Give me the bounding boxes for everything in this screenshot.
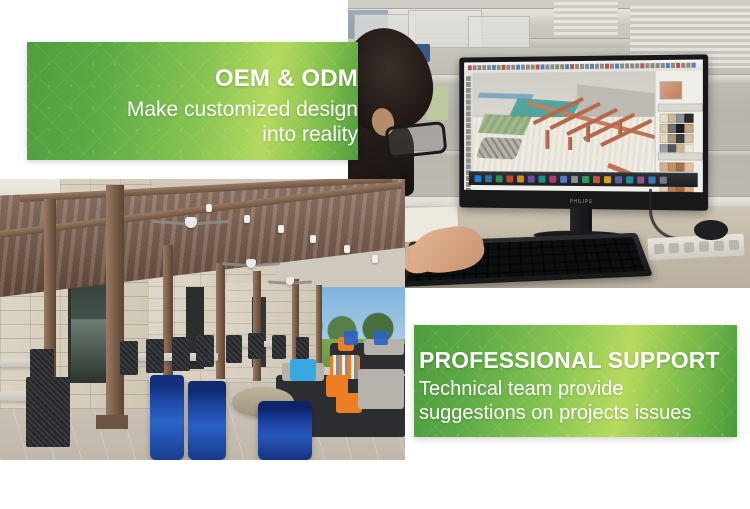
- cad-tool-icon: [692, 63, 696, 68]
- taskbar-app-icon: [485, 175, 492, 182]
- cad-tool-icon: [466, 153, 471, 158]
- cad-tool-icon: [560, 64, 564, 69]
- cad-tool-icon: [477, 65, 481, 70]
- cad-material-swatch: [684, 114, 693, 123]
- taskbar-app-icon: [626, 176, 633, 183]
- ceiling-fan: [222, 259, 280, 272]
- cad-material-swatch: [684, 163, 693, 172]
- cad-active-material: [660, 81, 683, 99]
- cad-pergola-beam: [532, 97, 583, 125]
- sofa-cushion: [358, 369, 404, 409]
- dining-chair: [146, 339, 164, 373]
- cad-tool-icon: [661, 63, 665, 68]
- cad-tool-icon: [516, 65, 520, 70]
- cad-tool-icon: [605, 64, 609, 69]
- taskbar-app-icon: [582, 176, 589, 183]
- cad-tool-icon: [550, 64, 554, 69]
- pergola-post-base: [96, 415, 128, 429]
- pergola-post: [316, 285, 322, 371]
- fan-blade: [196, 220, 230, 225]
- banner-support-line-1: Technical team provide: [419, 377, 624, 401]
- cad-tool-icon: [466, 129, 471, 134]
- taskbar-app-icon: [475, 175, 482, 182]
- fan-blade: [294, 280, 312, 284]
- cad-tool-icon: [482, 65, 486, 70]
- cad-tool-icon: [615, 64, 619, 69]
- photo-patio-pergola: [0, 179, 405, 460]
- cad-tool-icon: [466, 106, 471, 111]
- cad-tool-icon: [466, 188, 471, 192]
- cad-tool-icon: [565, 64, 569, 69]
- cad-tool-icon: [466, 164, 471, 169]
- blue-planter-small: [374, 331, 388, 345]
- pergola-downlight: [372, 255, 378, 263]
- cad-palette-header: [658, 152, 703, 160]
- cad-tool-icon: [686, 63, 690, 68]
- power-socket: [729, 240, 740, 251]
- os-taskbar: [469, 171, 698, 187]
- fan-housing: [246, 259, 256, 268]
- taskbar-app-icon: [604, 176, 611, 183]
- monitor-brand-label: PHILIPS: [570, 199, 593, 205]
- eyeglasses: [384, 121, 447, 159]
- pergola-downlight: [310, 235, 316, 243]
- blue-planter-small: [344, 331, 358, 345]
- power-socket: [684, 242, 695, 253]
- dining-chair: [196, 335, 214, 367]
- cad-tool-icon: [671, 63, 675, 68]
- dining-chair: [226, 335, 242, 363]
- cad-tool-icon: [580, 64, 584, 69]
- cad-tool-icon: [466, 100, 471, 105]
- ceiling-fan: [268, 277, 312, 288]
- cad-tool-icon: [595, 64, 599, 69]
- cad-tool-icon: [506, 65, 510, 70]
- cad-tool-icon: [640, 63, 644, 68]
- cad-tool-icon: [545, 64, 549, 69]
- cad-tool-icon: [487, 65, 491, 70]
- cad-tool-icon: [541, 64, 545, 69]
- taskbar-app-icon: [528, 176, 535, 183]
- photo-office-design: PHILIPS: [348, 0, 750, 288]
- dining-chair: [26, 377, 70, 447]
- cad-tool-icon: [600, 64, 604, 69]
- blue-glazed-vase: [150, 375, 184, 460]
- blue-glazed-vase: [188, 381, 226, 460]
- cad-tool-icon: [575, 64, 579, 69]
- cad-tool-icon: [466, 147, 471, 152]
- banner-oem-title: OEM & ODM: [215, 66, 358, 92]
- cad-tool-icon: [681, 63, 685, 68]
- cad-tool-icon: [466, 117, 471, 122]
- cad-tool-icon: [497, 65, 501, 70]
- dining-chair: [248, 333, 264, 359]
- cad-rock-bed: [476, 138, 523, 161]
- cad-tool-icon: [502, 65, 506, 70]
- cad-tool-icon: [666, 63, 670, 68]
- fan-blade: [256, 262, 280, 267]
- fan-housing: [286, 277, 294, 285]
- taskbar-app-icon: [637, 176, 644, 183]
- cad-tool-icon: [511, 65, 515, 70]
- cad-tool-icon: [466, 135, 471, 140]
- cad-tool-icon: [466, 76, 471, 81]
- cad-tool-icon: [492, 65, 496, 70]
- taskbar-app-icon: [660, 177, 667, 184]
- banner-support-line-2: suggestions on projects issues: [419, 401, 691, 425]
- dining-chair: [272, 335, 286, 359]
- cad-tool-icon: [466, 111, 471, 116]
- taskbar-app-icon: [560, 176, 567, 183]
- power-socket: [654, 244, 665, 255]
- pergola-post: [106, 185, 124, 420]
- ceiling-fan: [152, 217, 230, 233]
- cad-pergola-post: [586, 125, 590, 142]
- pergola-downlight: [344, 245, 350, 253]
- banner-professional-support: PROFESSIONAL SUPPORT Technical team prov…: [414, 325, 737, 437]
- cad-shrubs: [478, 114, 532, 135]
- pergola-post: [216, 263, 225, 379]
- taskbar-app-icon: [571, 176, 578, 183]
- mouse-device: [694, 220, 728, 240]
- cad-tool-icon: [555, 64, 559, 69]
- banner-support-title: PROFESSIONAL SUPPORT: [419, 348, 720, 373]
- banner-oem-line-1: Make customized design: [127, 97, 358, 123]
- cad-viewport: [473, 71, 656, 179]
- power-socket: [714, 241, 725, 252]
- cad-palette-header: [658, 103, 703, 111]
- collage-stage: PHILIPS: [0, 0, 750, 509]
- cad-tool-icon: [645, 63, 649, 68]
- taskbar-app-icon: [615, 176, 622, 183]
- pergola-downlight: [278, 225, 284, 233]
- cad-pergola-post: [545, 130, 549, 149]
- cad-material-swatch-grid: [660, 114, 692, 154]
- blue-glazed-vase: [258, 401, 312, 460]
- cad-tool-icon: [590, 64, 594, 69]
- taskbar-app-icon: [539, 176, 546, 183]
- dining-chair: [120, 341, 138, 375]
- pergola-downlight: [244, 215, 250, 223]
- cad-material-swatch: [684, 124, 693, 133]
- cad-pergola-beam: [549, 102, 600, 130]
- cad-tool-icon: [521, 65, 525, 70]
- sofa-cushion-blue: [290, 359, 316, 381]
- cad-tool-icon: [536, 64, 540, 69]
- cad-tool-icon: [531, 65, 535, 70]
- cad-pergola-post: [618, 120, 622, 136]
- cad-tool-icon: [466, 158, 471, 163]
- cad-tool-icon: [526, 65, 530, 70]
- power-socket: [669, 243, 680, 254]
- cad-tool-icon: [466, 82, 471, 87]
- cad-material-swatch: [684, 134, 693, 143]
- cad-tool-icon: [466, 141, 471, 146]
- computer-monitor: PHILIPS: [459, 54, 708, 210]
- cad-tool-icon: [625, 63, 629, 68]
- power-socket: [699, 241, 710, 252]
- banner-oem-line-2: into reality: [262, 122, 358, 148]
- banner-oem-odm: OEM & ODM Make customized design into re…: [27, 42, 358, 160]
- cad-materials-panel: [655, 71, 703, 180]
- taskbar-app-icon: [648, 177, 655, 184]
- cad-pergola-model: [526, 97, 633, 153]
- cad-tool-icon: [635, 63, 639, 68]
- cad-tool-icon: [468, 65, 472, 70]
- taskbar-app-icon: [496, 175, 503, 182]
- cad-tool-icon: [610, 64, 614, 69]
- dining-chair: [172, 337, 190, 371]
- fan-blade: [268, 280, 286, 284]
- cad-tool-icon: [650, 63, 654, 68]
- pergola-post: [253, 271, 261, 381]
- taskbar-app-icon: [593, 176, 600, 183]
- cad-tool-icon: [620, 63, 624, 68]
- monitor-screen: [464, 59, 703, 192]
- cad-pergola-post: [569, 137, 573, 150]
- cad-tool-icon: [466, 94, 471, 99]
- storage-bin: [468, 16, 530, 48]
- cad-tool-icon: [630, 63, 634, 68]
- cad-tool-icon: [466, 123, 471, 128]
- dining-chair: [296, 337, 309, 359]
- cad-tool-icon: [473, 65, 477, 70]
- cad-tool-icon: [466, 88, 471, 93]
- fan-blade: [222, 262, 246, 267]
- taskbar-app-icon: [517, 176, 524, 183]
- taskbar-app-icon: [506, 175, 513, 182]
- fan-blade: [152, 220, 186, 225]
- cad-tool-icon: [585, 64, 589, 69]
- cad-tool-icon: [656, 63, 660, 68]
- cad-tool-icon: [570, 64, 574, 69]
- pergola-downlight: [206, 204, 212, 212]
- cad-tool-icon: [676, 63, 680, 68]
- fan-housing: [185, 217, 197, 228]
- window-louver: [554, 2, 618, 36]
- taskbar-app-icon: [549, 176, 556, 183]
